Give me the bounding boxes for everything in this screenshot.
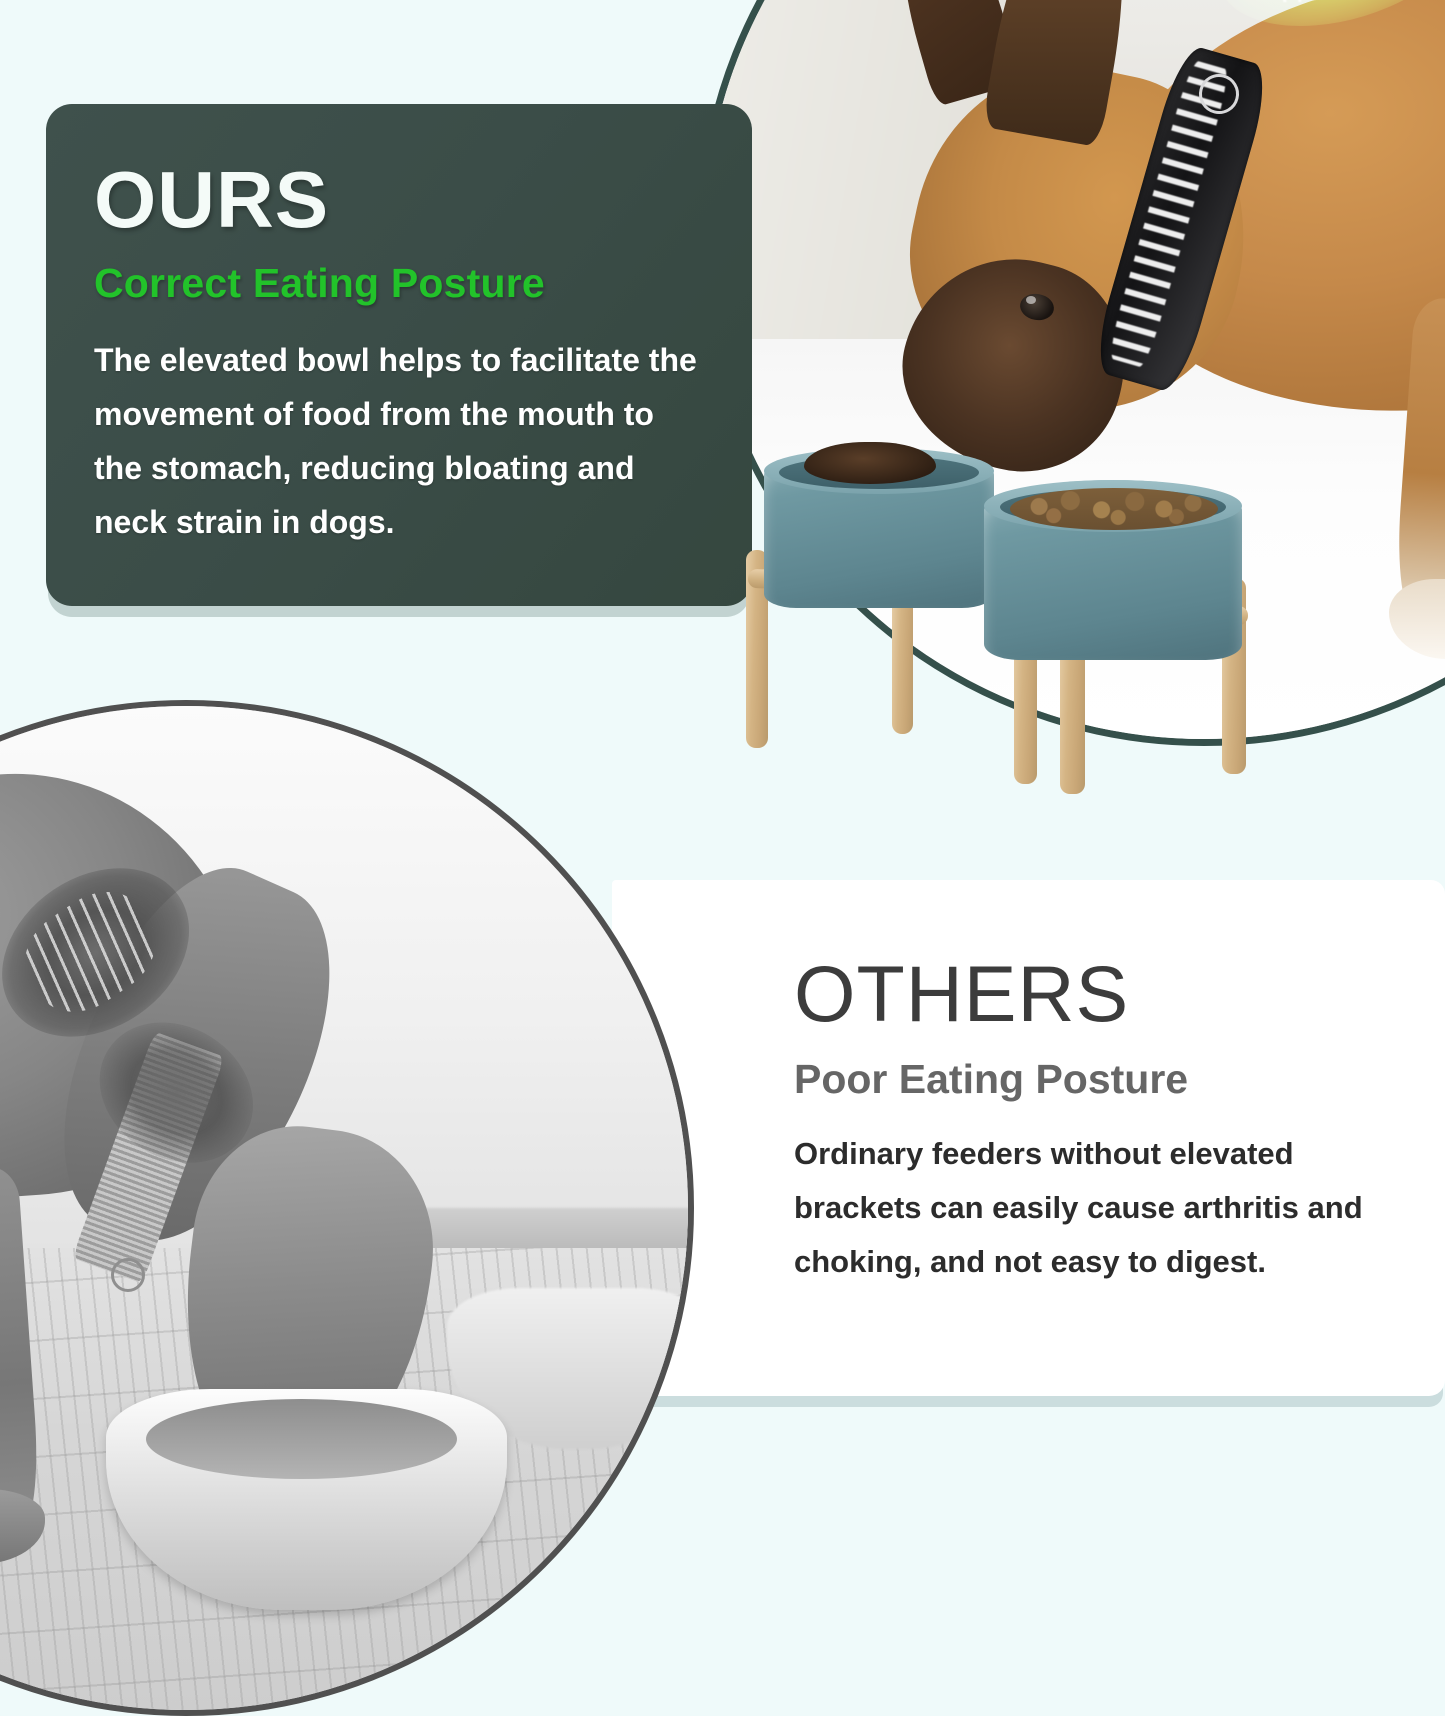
others-title: OTHERS: [794, 956, 1375, 1032]
kibble-food: [1010, 488, 1218, 530]
infographic-canvas: OURS Correct Eating Posture The elevated…: [0, 0, 1445, 1445]
others-subtitle: Poor Eating Posture: [794, 1056, 1375, 1103]
dog-eye-highlight: [1026, 296, 1036, 304]
elevated-bowl-stand: [742, 432, 1272, 762]
others-product-photo: [0, 700, 694, 1716]
dog-muzzle-in-bowl: [804, 442, 936, 484]
floor-level-bowl-interior: [146, 1399, 457, 1479]
ours-subtitle: Correct Eating Posture: [94, 260, 700, 307]
others-info-card: OTHERS Poor Eating Posture Ordinary feed…: [612, 880, 1445, 1396]
others-dog-collar-ring: [111, 1258, 145, 1292]
ours-title: OURS: [94, 162, 700, 238]
others-body-text: Ordinary feeders without elevated bracke…: [794, 1127, 1375, 1289]
ours-body-text: The elevated bowl helps to facilitate th…: [94, 333, 700, 549]
ours-info-card: OURS Correct Eating Posture The elevated…: [46, 104, 752, 606]
